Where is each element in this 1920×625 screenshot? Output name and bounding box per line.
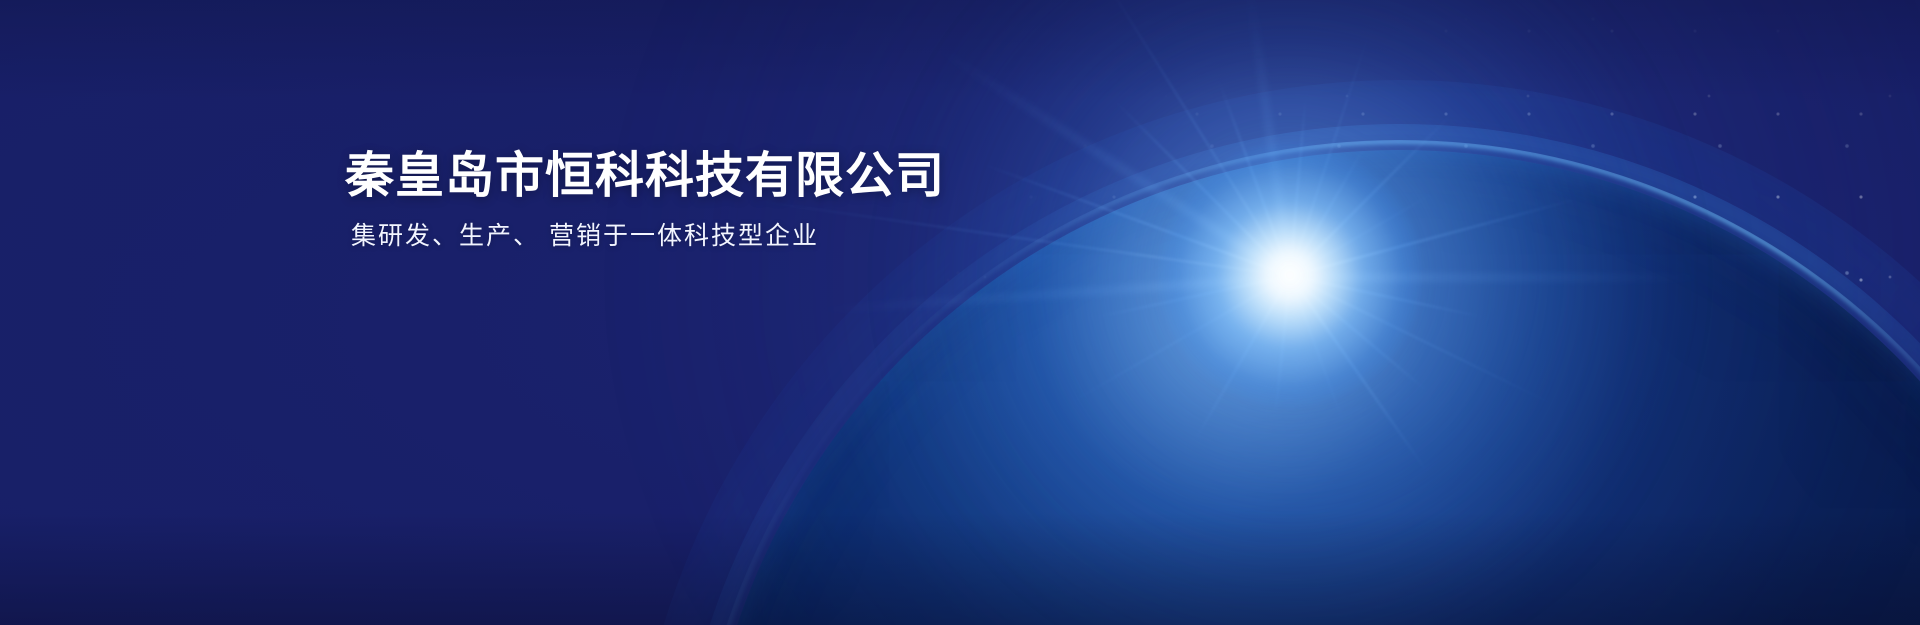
hero-banner: 秦皇岛市恒科科技有限公司 集研发、生产、 营销于一体科技型企业 bbox=[0, 0, 1920, 625]
sun-core bbox=[1160, 145, 1420, 405]
company-tagline: 集研发、生产、 营销于一体科技型企业 bbox=[351, 221, 1105, 251]
company-name-heading: 秦皇岛市恒科科技有限公司 bbox=[345, 150, 1105, 203]
banner-copy: 秦皇岛市恒科科技有限公司 集研发、生产、 营销于一体科技型企业 bbox=[345, 150, 1105, 251]
